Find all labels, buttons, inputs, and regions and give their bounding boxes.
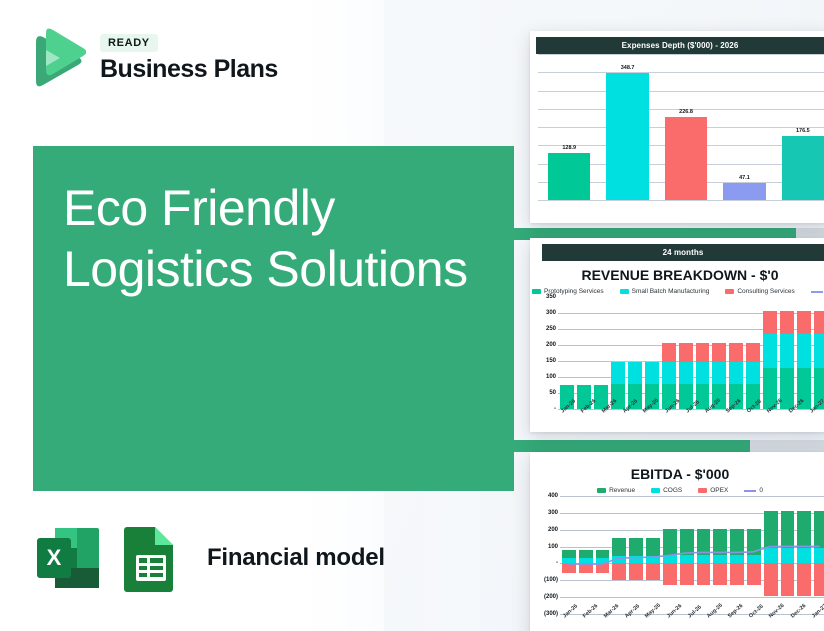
legend-label: Small Batch Manufacturing <box>632 288 710 295</box>
bar-value-label: 47.1 <box>739 175 750 181</box>
hero-panel: Eco Friendly Logistics Solutions <box>33 146 514 491</box>
bar-segment-opex <box>612 563 626 580</box>
legend-item: Revenue <box>597 487 635 494</box>
legend-swatch <box>620 289 629 294</box>
bar-segment-revenue <box>629 538 643 556</box>
brand-logo-block[interactable]: READY Business Plans <box>30 28 278 88</box>
bar-segment-cogs <box>663 555 677 563</box>
bar-segment-cogs <box>629 556 643 563</box>
financial-model-label: Financial model <box>207 544 385 572</box>
brand-name: Business Plans <box>100 56 278 82</box>
bar-segment <box>797 334 811 368</box>
bar-segment-revenue <box>612 538 626 556</box>
bar-segment-opex <box>730 563 744 585</box>
microsoft-excel-icon: X <box>33 522 103 594</box>
bar-value-label: 348.7 <box>621 65 635 71</box>
bar-segment <box>712 343 726 362</box>
bar-segment <box>814 334 824 368</box>
bar-segment-revenue <box>697 529 711 555</box>
bar-segment-opex <box>562 563 576 573</box>
legend-swatch <box>744 490 756 492</box>
chart-card-ebitda[interactable]: EBITDA - $'000 RevenueCOGSOPEX0 40030020… <box>530 452 824 631</box>
bar-segment-opex <box>579 563 593 573</box>
y-tick-label: (100) <box>544 577 558 583</box>
bar-segment-opex <box>596 563 610 573</box>
bar-segment-revenue <box>646 538 660 556</box>
stacked-bar[interactable] <box>814 496 824 614</box>
y-tick-label: 350 <box>546 294 556 300</box>
bar-segment-cogs <box>612 556 626 563</box>
bar-segment-cogs <box>697 555 711 563</box>
stacked-bar[interactable] <box>596 496 610 614</box>
y-tick-label: 400 <box>548 493 558 499</box>
bar-segment-opex <box>764 563 778 596</box>
bar-segment-cogs <box>797 548 811 563</box>
y-tick-label: - <box>556 560 558 566</box>
bar-segment-opex <box>814 563 824 596</box>
bar-segment-opex <box>797 563 811 596</box>
bar-segment-cogs <box>764 548 778 563</box>
bar-segment-cogs <box>680 555 694 563</box>
bar[interactable]: 128.9 <box>548 153 590 200</box>
stacked-bar[interactable] <box>763 311 777 409</box>
play-triangle-logo-icon <box>30 28 86 88</box>
ebitda-chart-title: EBITDA - $'000 <box>530 452 824 484</box>
revenue-x-axis: Jan-26Feb-26Mar-26Apr-26May-26Jun-26Jul-… <box>530 410 824 416</box>
stacked-bar[interactable] <box>730 496 744 614</box>
gray-strip-lower <box>750 440 824 452</box>
revenue-bar-group <box>558 297 824 409</box>
legend-label: COGS <box>663 487 682 494</box>
y-tick-label: 150 <box>546 358 556 364</box>
bar-segment <box>712 362 726 384</box>
accent-slab-lower <box>460 440 750 452</box>
bar-segment <box>780 334 794 368</box>
y-tick-label: 50 <box>549 390 556 396</box>
stacked-bar[interactable] <box>680 496 694 614</box>
bar-segment <box>814 311 824 334</box>
bar-segment-revenue <box>747 529 761 555</box>
bar-segment-opex <box>781 563 795 596</box>
revenue-headbar: 24 months <box>542 244 824 261</box>
bar-segment-revenue <box>713 529 727 555</box>
ebitda-x-axis: Jan-26Feb-26Mar-26Apr-26May-26Jun-26Jul-… <box>530 615 824 621</box>
bar-segment <box>679 343 693 362</box>
bar-segment-opex <box>713 563 727 585</box>
bar-segment-opex <box>646 563 660 580</box>
stacked-bar[interactable] <box>781 496 795 614</box>
ready-badge: READY <box>100 34 158 52</box>
stacked-bar[interactable] <box>814 311 824 409</box>
poster-canvas: READY Business Plans Eco Friendly Logist… <box>0 0 824 631</box>
stacked-bar[interactable] <box>662 343 676 409</box>
bar-segment-opex <box>697 563 711 585</box>
stacked-bar[interactable] <box>713 496 727 614</box>
bar-segment-cogs <box>730 555 744 563</box>
y-tick-label: 100 <box>546 374 556 380</box>
bar-segment <box>662 343 676 362</box>
legend-item: OPEX <box>698 487 728 494</box>
stacked-bar[interactable] <box>562 496 576 614</box>
y-tick-label: 300 <box>548 510 558 516</box>
page-title: Eco Friendly Logistics Solutions <box>63 178 493 300</box>
bar-segment <box>746 362 760 384</box>
legend-item: Prototyping Services <box>532 288 604 295</box>
revenue-legend: Prototyping ServicesSmall Batch Manufact… <box>530 285 824 297</box>
chart-card-expenses-depth[interactable]: Expenses Depth ($'000) - 2026 128.9348.7… <box>530 31 824 223</box>
chart-card-revenue-breakdown[interactable]: 24 months REVENUE BREAKDOWN - $'0 Protot… <box>530 238 824 432</box>
legend-swatch <box>597 488 606 493</box>
bar-segment <box>763 311 777 334</box>
bar-segment-opex <box>747 563 761 585</box>
stacked-bar[interactable] <box>797 496 811 614</box>
stacked-bar[interactable] <box>579 496 593 614</box>
stacked-bar[interactable] <box>764 496 778 614</box>
y-tick-label: 250 <box>546 326 556 332</box>
bar-segment-revenue <box>781 511 795 548</box>
bar-segment-opex <box>663 563 677 585</box>
bar-segment <box>679 362 693 384</box>
bar-segment <box>729 362 743 384</box>
bar-segment-revenue <box>579 550 593 558</box>
legend-swatch <box>651 488 660 493</box>
bar-segment <box>797 311 811 334</box>
stacked-bar[interactable] <box>663 496 677 614</box>
bar-segment-cogs <box>781 548 795 563</box>
bar-segment <box>696 343 710 362</box>
bar-segment <box>746 343 760 362</box>
ebitda-bar-group <box>560 496 824 614</box>
svg-text:X: X <box>47 545 62 570</box>
y-tick-label: 300 <box>546 310 556 316</box>
legend-item: - <box>811 288 824 295</box>
gridline <box>538 200 824 201</box>
bar-segment-revenue <box>663 529 677 555</box>
bar[interactable]: 176.5 <box>782 136 824 200</box>
bar-segment-revenue <box>814 511 824 548</box>
legend-item: Consulting Services <box>725 288 794 295</box>
stacked-bar[interactable] <box>696 343 710 409</box>
bar[interactable]: 47.1 <box>723 183 765 200</box>
bar-segment-cogs <box>747 555 761 563</box>
bar-segment-cogs <box>646 556 660 563</box>
revenue-y-axis: 35030025020015010050- <box>532 297 558 409</box>
bar-segment-revenue <box>596 550 610 558</box>
y-tick-label: (200) <box>544 594 558 600</box>
stacked-bar[interactable] <box>780 311 794 409</box>
stacked-bar[interactable] <box>646 496 660 614</box>
legend-item: 0 <box>744 487 763 494</box>
bar-segment-revenue <box>797 511 811 548</box>
bar[interactable]: 226.8 <box>665 117 707 200</box>
legend-swatch <box>725 289 734 294</box>
bar-segment-cogs <box>713 555 727 563</box>
bar-segment-revenue <box>680 529 694 555</box>
legend-item: Small Batch Manufacturing <box>620 288 710 295</box>
stacked-bar[interactable] <box>697 496 711 614</box>
bar-segment <box>729 343 743 362</box>
legend-label: Consulting Services <box>737 288 794 295</box>
y-tick-label: (300) <box>544 611 558 617</box>
revenue-plot-area <box>558 297 824 409</box>
bar-segment <box>780 311 794 334</box>
bar-segment <box>645 362 659 384</box>
bar-segment <box>662 362 676 384</box>
expenses-headbar: Expenses Depth ($'000) - 2026 <box>536 37 824 54</box>
bar-value-label: 128.9 <box>562 145 576 151</box>
revenue-plot-body: 35030025020015010050- <box>530 297 824 409</box>
stacked-bar[interactable] <box>747 496 761 614</box>
bar-segment <box>628 362 642 384</box>
stacked-bar[interactable] <box>797 311 811 409</box>
legend-label: Revenue <box>609 487 635 494</box>
ebitda-plot-body: 400300200100-(100)(200)(300) <box>530 496 824 614</box>
legend-label: OPEX <box>710 487 728 494</box>
ebitda-legend: RevenueCOGSOPEX0 <box>530 484 824 496</box>
legend-swatch <box>532 289 541 294</box>
stacked-bar[interactable] <box>612 496 626 614</box>
bar-segment-opex <box>680 563 694 585</box>
legend-swatch <box>698 488 707 493</box>
revenue-chart-title: REVENUE BREAKDOWN - $'0 <box>530 261 824 285</box>
bar-segment-revenue <box>730 529 744 555</box>
financial-model-row: X Financial model <box>33 522 385 594</box>
y-tick-label: - <box>554 406 556 412</box>
y-tick-label: 200 <box>548 527 558 533</box>
stacked-bar[interactable] <box>629 496 643 614</box>
google-sheets-icon <box>119 522 185 594</box>
y-tick-label: 100 <box>548 544 558 550</box>
expenses-bar-group: 128.9348.7226.847.1176.5 <box>548 54 824 200</box>
bar-segment <box>763 334 777 368</box>
legend-label: 0 <box>759 487 763 494</box>
bar-value-label: 226.8 <box>679 109 693 115</box>
bar-segment-opex <box>629 563 643 580</box>
y-tick-label: 200 <box>546 342 556 348</box>
bar-segment-revenue <box>764 511 778 548</box>
legend-item: COGS <box>651 487 682 494</box>
bar-segment-revenue <box>562 550 576 558</box>
bar-segment <box>696 362 710 384</box>
expenses-plot-area: 128.9348.7226.847.1176.5 <box>538 54 824 200</box>
bar-segment <box>611 362 625 384</box>
bar-segment-cogs <box>814 548 824 563</box>
bar-value-label: 176.5 <box>796 128 810 134</box>
ebitda-plot-area <box>560 496 824 614</box>
stacked-bar[interactable] <box>679 343 693 409</box>
ebitda-y-axis: 400300200100-(100)(200)(300) <box>532 496 560 614</box>
legend-swatch <box>811 291 823 293</box>
bar[interactable]: 348.7 <box>606 73 648 200</box>
